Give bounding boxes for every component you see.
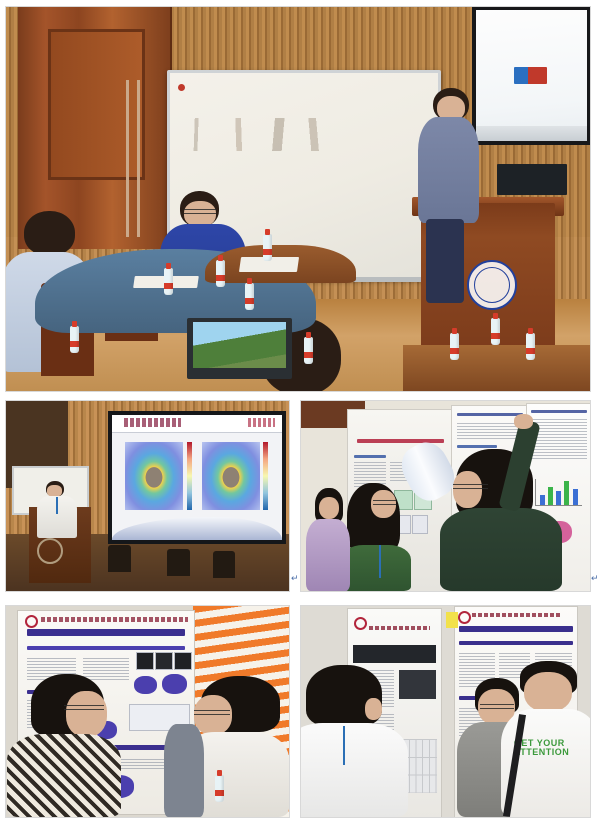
plaid-person-face (66, 691, 106, 737)
tshirt-printed-text: GET YOUR ATTENTION (514, 739, 574, 758)
photo-4-scene (6, 606, 289, 817)
person-speaker (415, 88, 497, 299)
right-person-face (524, 672, 573, 713)
podium-laptop (497, 164, 567, 195)
water-bottle (215, 775, 224, 802)
whiteboard-handwriting (191, 118, 379, 151)
water-bottle (164, 268, 173, 295)
water-bottle (304, 337, 313, 364)
poster-header-band (27, 629, 185, 636)
audience-left-head (24, 211, 76, 256)
poster-logo-icon (25, 615, 38, 628)
left-person-torso (301, 723, 408, 817)
poster-crystal-graphic (134, 676, 157, 694)
poster-title-text (369, 626, 430, 630)
person-presenter-pointing (440, 449, 573, 592)
presenter-lanyard (56, 497, 58, 514)
poster-micrograph (174, 652, 192, 670)
water-bottle (216, 260, 225, 287)
poster-header-band (459, 626, 573, 632)
pilcrow-after-photo-3: ↵ (591, 574, 599, 583)
slide-colormap-figure-2 (202, 442, 260, 510)
audience-laptop-screen (193, 322, 285, 369)
door-handle-1 (126, 80, 129, 237)
sticky-note (446, 612, 458, 628)
photo-poster-session-three-men[interactable]: GET YOUR ATTENTION (300, 605, 591, 818)
man-hand (514, 414, 533, 428)
background-person-torso (306, 519, 350, 591)
empty-chair (108, 545, 131, 572)
photo-2-scene (6, 401, 289, 591)
poster-title-text (472, 613, 562, 617)
poster-body-text (457, 423, 523, 440)
person-presenter (37, 481, 77, 538)
man-torso (440, 508, 562, 591)
man-face (453, 471, 482, 508)
photo-3-scene (301, 401, 590, 591)
woman-lanyard (379, 545, 381, 577)
door-panel (48, 29, 145, 180)
person-attendee-woman (341, 483, 410, 591)
left-person-lanyard (343, 726, 345, 765)
poster-dark-banner (353, 645, 436, 664)
plaid-person-glasses-icon (64, 705, 104, 710)
poster-subheader-band (459, 641, 573, 645)
water-bottle (245, 283, 254, 310)
photo-poster-session-man-pointing[interactable] (300, 400, 591, 592)
poster-title-text (41, 617, 188, 622)
speaker-torso (418, 117, 478, 223)
screen-wallpaper-logo (514, 67, 547, 84)
background-person-torso (164, 724, 204, 817)
photo-projected-slide-simulation-colormaps[interactable] (5, 400, 290, 592)
empty-chair (167, 549, 190, 576)
water-bottle (450, 333, 459, 360)
document-page: ↵ (0, 0, 600, 816)
whiteboard-magnet-icon (178, 84, 185, 91)
poster-logo-icon (458, 611, 471, 624)
university-seal-emblem (37, 538, 63, 564)
photo-1-scene (6, 7, 590, 391)
water-bottle (491, 318, 500, 345)
front-table (403, 345, 590, 391)
water-bottle (70, 326, 79, 353)
photo-lecture-hall-speaker-at-podium[interactable] (5, 6, 591, 392)
water-bottle (526, 333, 535, 360)
woman-glasses-icon (373, 500, 395, 505)
poster-section-bar (531, 410, 587, 413)
speaker-legs (426, 219, 464, 303)
person-attendee-right: GET YOUR ATTENTION (509, 661, 590, 817)
empty-chair (213, 551, 236, 578)
slide-title-text (124, 418, 182, 427)
poster-micrograph (155, 652, 173, 670)
poster-section-bar (354, 455, 385, 458)
background-person-face (319, 497, 339, 520)
audience-laptop (187, 318, 292, 379)
poster-section-bar (457, 445, 498, 448)
left-person-ear (365, 698, 382, 719)
man-glasses-icon (453, 484, 488, 489)
woman-torso (341, 545, 410, 590)
chart-bar (573, 489, 578, 505)
projection-screen (108, 411, 286, 544)
water-bottle (263, 234, 272, 261)
slide-footer-wave (112, 517, 282, 540)
photo-5-scene: GET YOUR ATTENTION (301, 606, 590, 817)
door-handle-2 (137, 80, 140, 237)
slide-colorbar-2 (263, 442, 268, 510)
poster-logo-icon (354, 617, 367, 630)
slide-colorbar-1 (187, 442, 192, 510)
poster-subheader-band (27, 646, 185, 650)
person-attendee-left-foreground (301, 665, 411, 817)
slide-university-logo (248, 418, 275, 427)
poster-figure (412, 515, 429, 533)
pilcrow-after-photo-2: ↵ (291, 574, 299, 583)
slide-colormap-figure-1 (125, 442, 183, 510)
poster-micrograph (136, 652, 154, 670)
person-attendee-background (310, 488, 350, 591)
photo-poster-discussion-two-men[interactable] (5, 605, 290, 818)
plaid-person-torso (7, 734, 121, 817)
poster-section-bar (457, 413, 523, 416)
person-attendee-plaid (12, 674, 131, 817)
moderator-glasses-icon (184, 209, 216, 214)
person-attendee-background (164, 701, 204, 817)
